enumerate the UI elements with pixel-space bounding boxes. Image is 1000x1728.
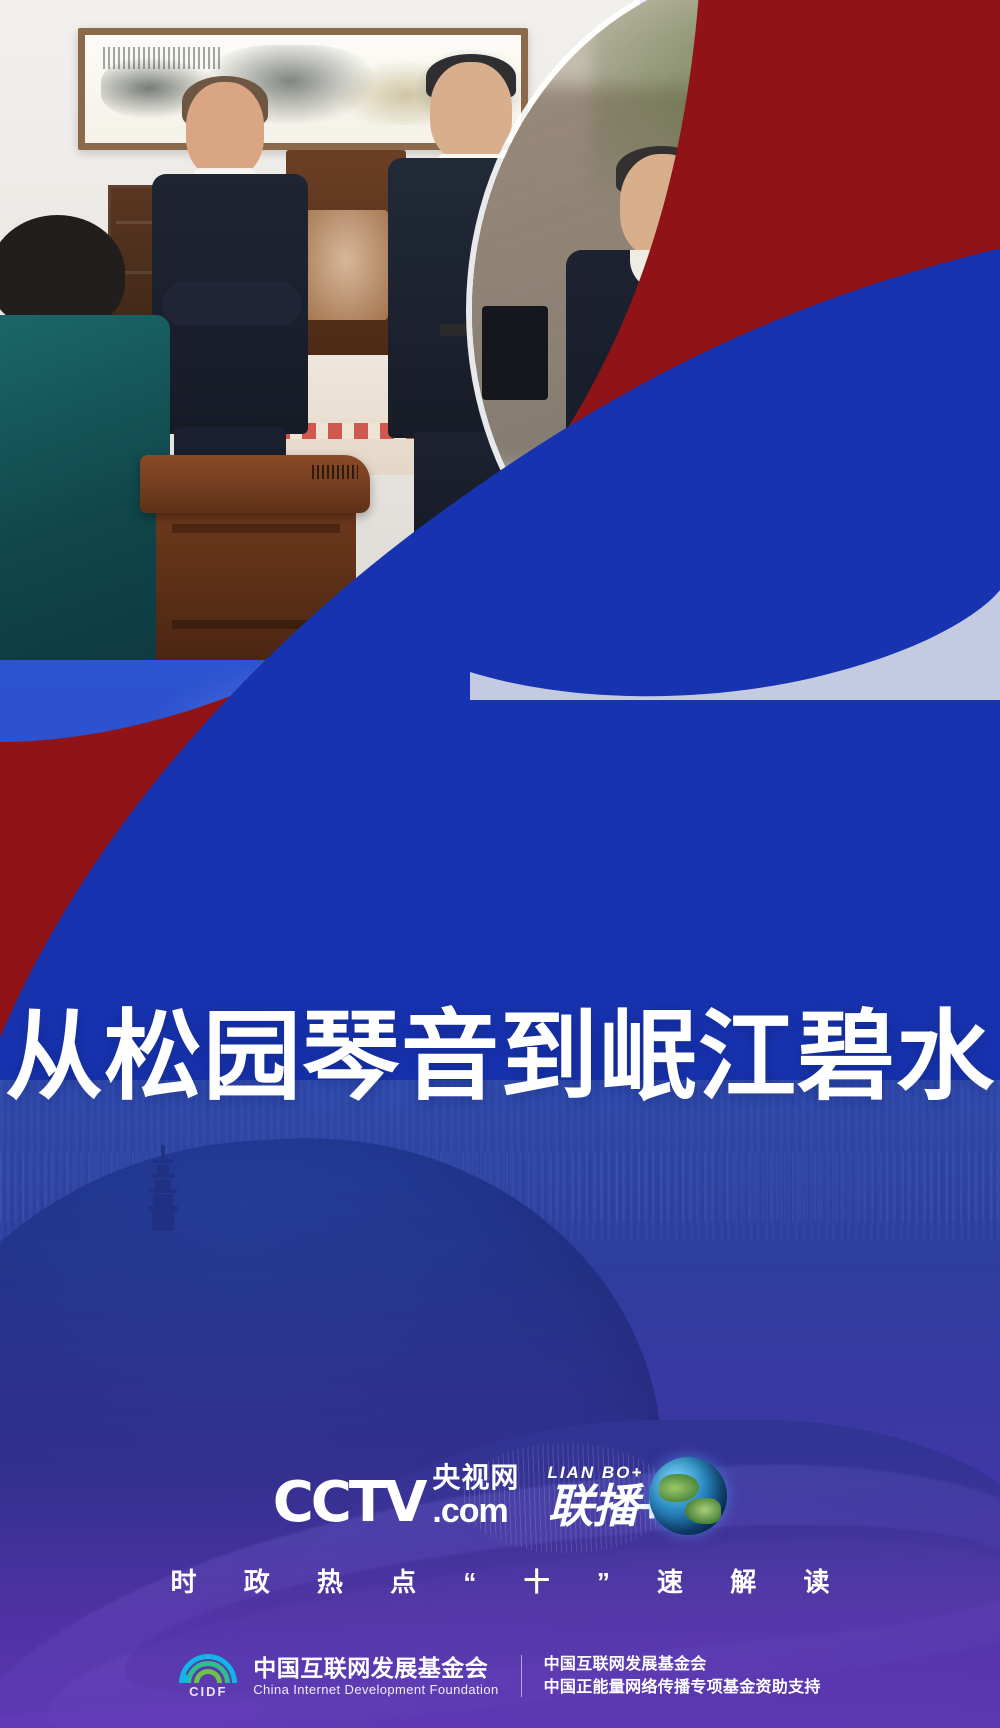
cctv-wordmark: CCTV	[273, 1478, 425, 1528]
poster-root: 从松园琴音到岷江碧水 CCTV 央视网 .com LIAN BO+ 联播+ 时 …	[0, 0, 1000, 1728]
guqin-table	[156, 500, 356, 660]
footer-divider	[521, 1655, 522, 1697]
cidf-names: 中国互联网发展基金会 China Internet Development Fo…	[253, 1654, 498, 1699]
cloud	[620, 710, 920, 820]
figure-interpreter	[690, 166, 850, 606]
photo-riverside-walk	[472, 0, 1000, 656]
cloud	[80, 790, 440, 890]
globe-icon	[649, 1457, 727, 1535]
scenic-blue-purple-tint	[0, 1020, 1000, 1728]
cidf-logo: CIDF	[179, 1653, 237, 1699]
guqin-instrument	[140, 455, 370, 513]
cidf-abbreviation: CIDF	[189, 1684, 227, 1699]
photo-collage	[0, 0, 1000, 700]
funding-line-1: 中国互联网发展基金会	[544, 1653, 821, 1676]
tagline: 时 政 热 点 “ 十 ” 速 解 读	[0, 1562, 1000, 1599]
cidf-wave-icon	[179, 1653, 237, 1683]
page-title: 从松园琴音到岷江碧水	[0, 1006, 1000, 1110]
radiating-lines-decoration	[461, 1443, 671, 1553]
funding-line-2: 中国正能量网络传播专项基金资助支持	[544, 1676, 821, 1699]
funding-credit: 中国互联网发展基金会 中国正能量网络传播专项基金资助支持	[544, 1653, 821, 1699]
cloud	[520, 810, 940, 930]
scenic-landscape-photo	[0, 1020, 1000, 1728]
cidf-english-name: China Internet Development Foundation	[253, 1682, 498, 1698]
footer-credits: CIDF 中国互联网发展基金会 China Internet Developme…	[0, 1644, 1000, 1708]
logo-row: CCTV 央视网 .com LIAN BO+ 联播+	[0, 1436, 1000, 1556]
cidf-chinese-name: 中国互联网发展基金会	[253, 1654, 498, 1683]
lianbo-logo[interactable]: LIAN BO+ 联播+	[547, 1457, 727, 1535]
calligraphy-inscription	[103, 47, 223, 69]
briefcase	[482, 306, 548, 400]
figure-macron-outdoor	[842, 171, 1000, 641]
